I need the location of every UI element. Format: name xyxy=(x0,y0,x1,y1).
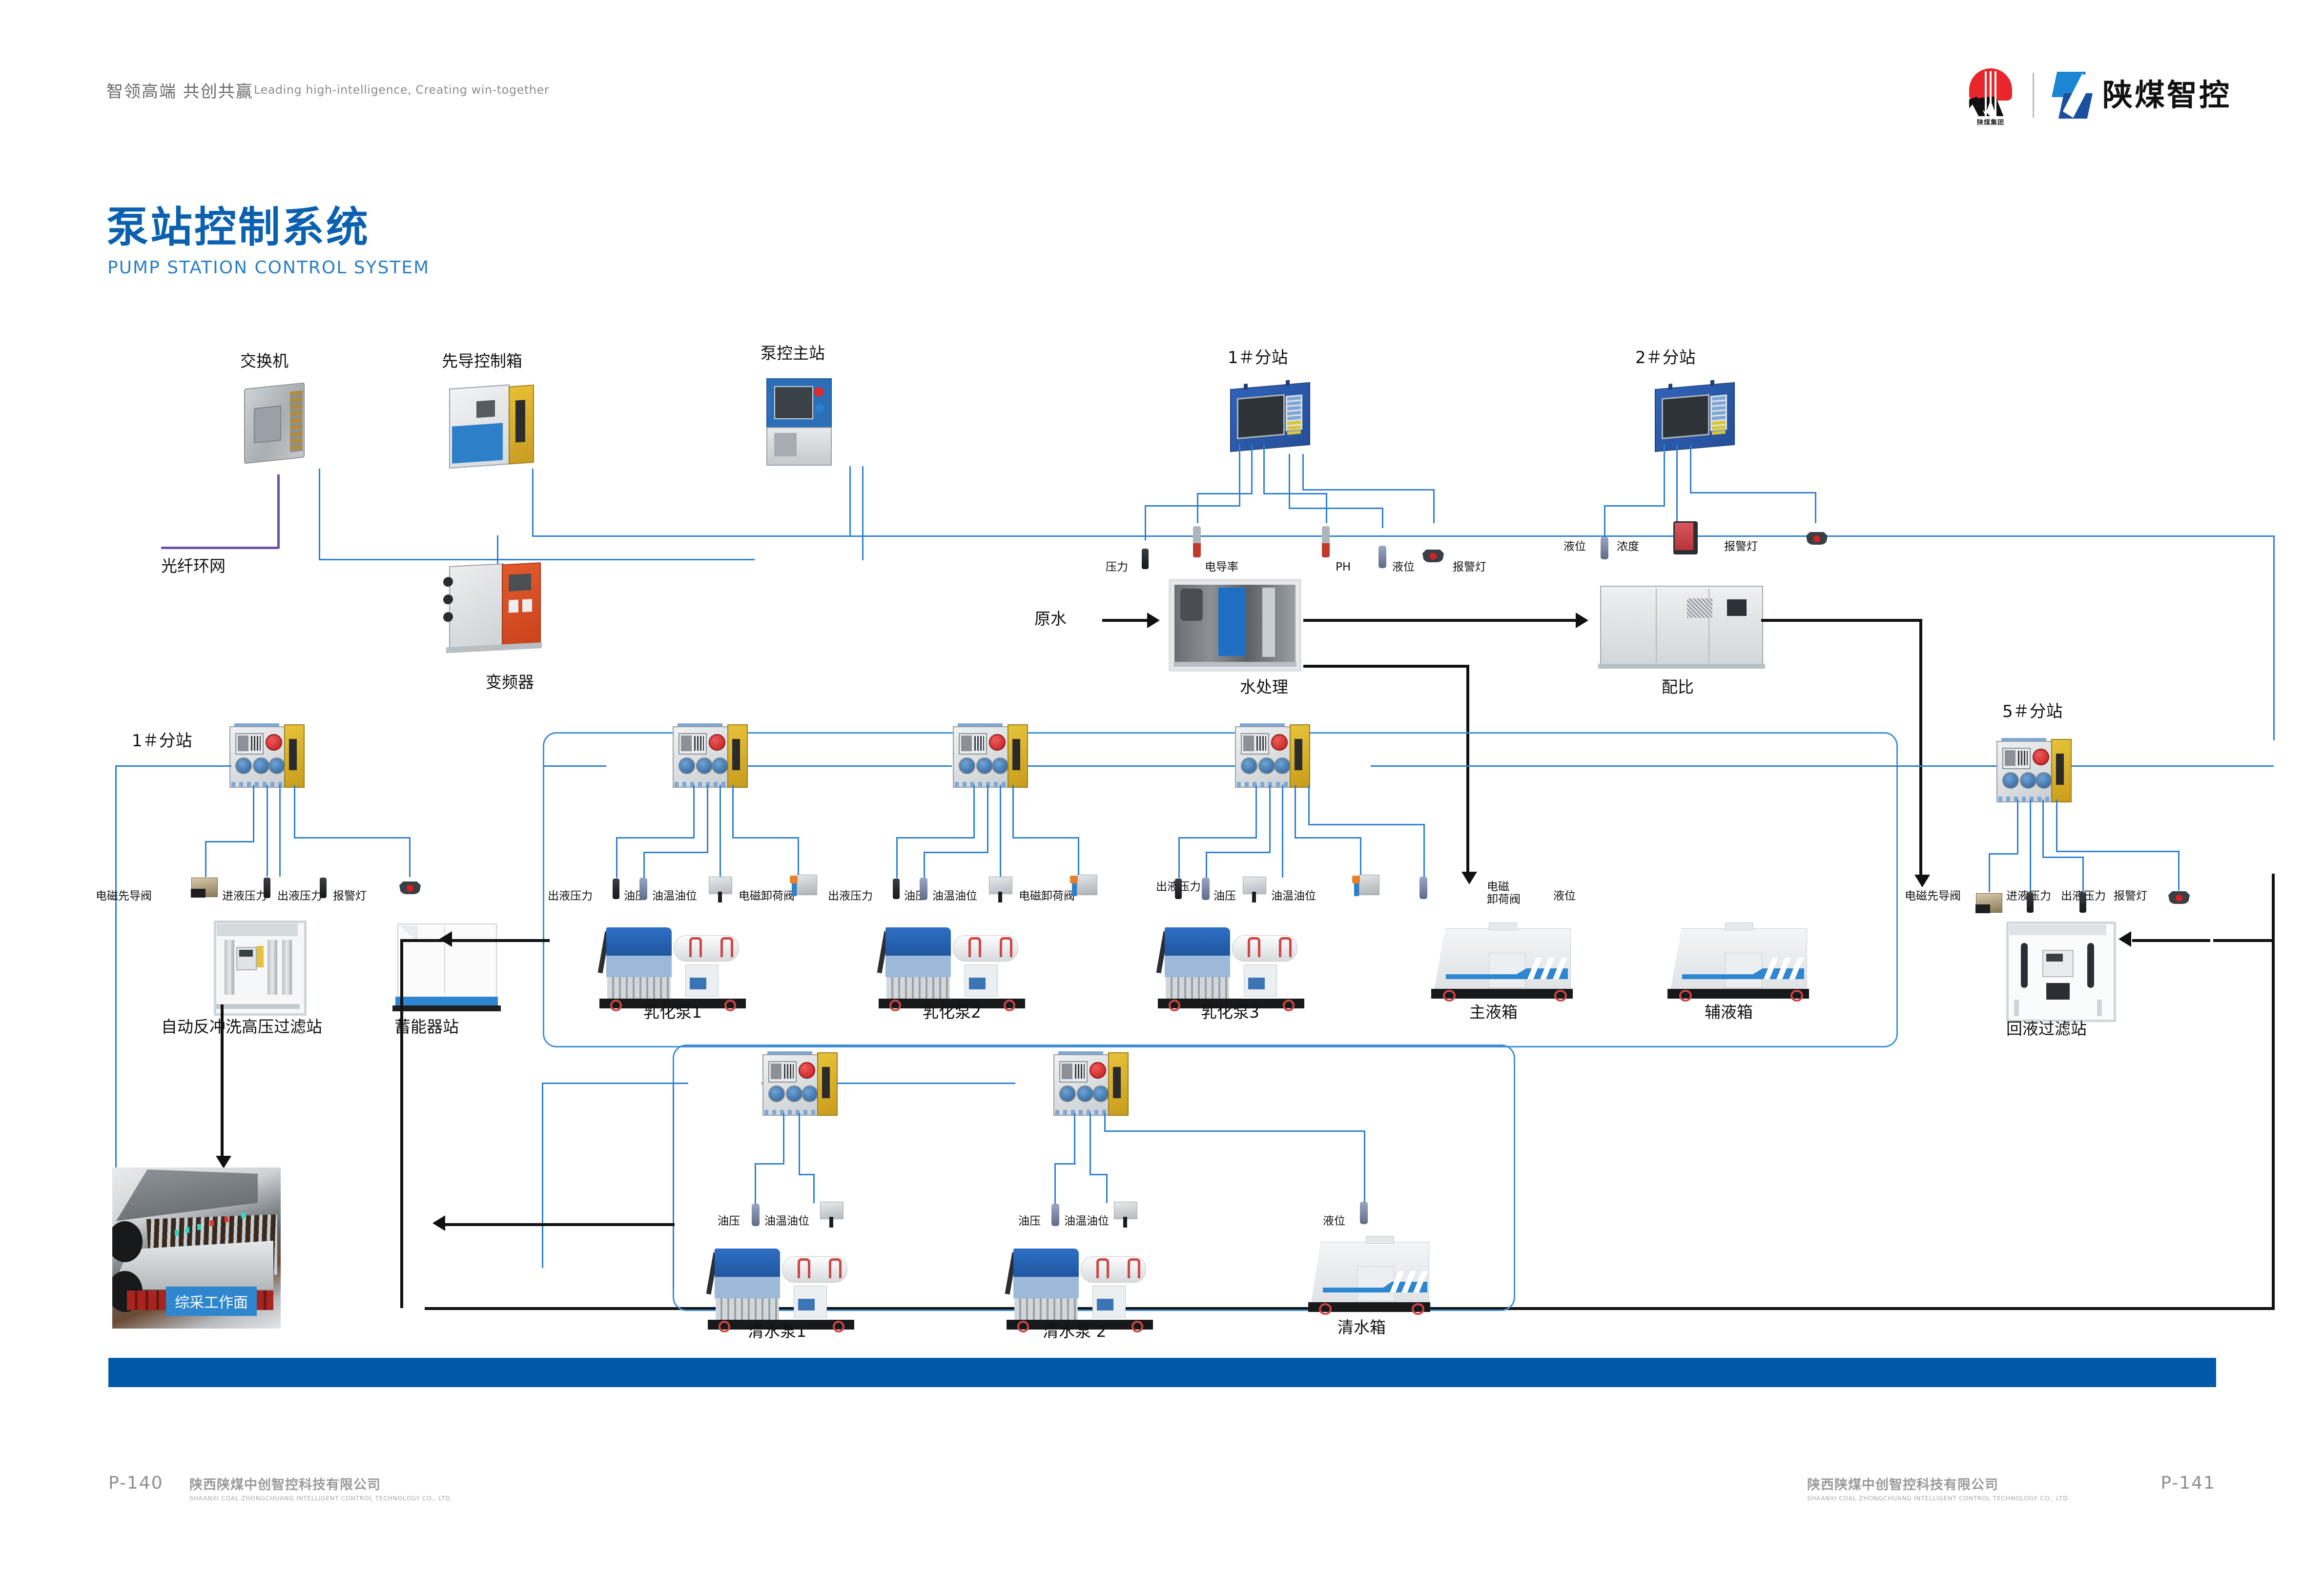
sensor-label-solenoid-pilot-valve: 电磁先导阀 xyxy=(96,890,152,903)
page-title-en: PUMP STATION CONTROL SYSTEM xyxy=(107,258,430,278)
device-label-pilot-box: 先导控制箱 xyxy=(442,352,522,370)
equip-label-clean-water-tank: 清水箱 xyxy=(1337,1319,1386,1336)
sensor-label-solenoid-pilot-valve-5: 电磁先导阀 xyxy=(1905,890,1961,903)
pressure-probe-icon-in-5 xyxy=(2027,892,2034,913)
page-number-right: P-141 xyxy=(2160,1473,2216,1493)
equip-label-backwash-filter: 自动反冲洗高压过滤站 xyxy=(161,1018,322,1036)
sensor-label-alarm: 报警灯 xyxy=(1453,561,1486,574)
sensor-label-oil-pressure-w1: 油压 xyxy=(718,1215,740,1228)
substation-5-mid-icon xyxy=(1996,741,2070,800)
sensor-label-inlet-pressure: 进液压力 xyxy=(222,890,267,903)
logo-divider xyxy=(2033,73,2034,118)
network-switch-icon xyxy=(244,382,305,464)
pressure-probe-icon-in xyxy=(264,878,270,898)
page-number-left: P-140 xyxy=(108,1473,164,1493)
footer-company-right: 陕西陕煤中创智控科技有限公司 SHAANXI COAL ZHONGCHUANG … xyxy=(1807,1474,2070,1502)
pilotbox-bus xyxy=(532,535,849,537)
solenoid-unloading-valve-icon-p2 xyxy=(1070,874,1097,896)
logo-group-caption: 陕煤集团 xyxy=(1966,117,2015,126)
sensor-label-level-2: 液位 xyxy=(1563,541,1586,553)
auto-backwash-filter-icon xyxy=(214,921,302,1011)
solenoid-unloading-valve-icon-p1 xyxy=(790,874,817,896)
sensor-label-conductivity: 电导率 xyxy=(1205,561,1238,574)
pressure-probe-icon-p2 xyxy=(893,879,900,899)
alarm-lamp-icon-5 xyxy=(2168,891,2190,904)
header-slogan-en: Leading high-intelligence, Creating win-… xyxy=(254,83,549,97)
footer-company-cn-left: 陕西陕煤中创智控科技有限公司 xyxy=(189,1474,452,1493)
footer-blue-bar xyxy=(108,1358,2216,1387)
footer-company-en-right: SHAANXI COAL ZHONGCHUANG INTELLIGENT CON… xyxy=(1807,1495,2070,1502)
zhikong-mark-icon xyxy=(2052,72,2094,119)
oil-temp-level-sensor-icon-p1 xyxy=(709,877,732,894)
sensor-label-oil-temp-level-p3: 油温油位 xyxy=(1271,890,1316,903)
sensor-label-oil-pressure-w2: 油压 xyxy=(1018,1215,1041,1228)
return-filter-station-icon xyxy=(2006,922,2111,1024)
substation-2-top-icon xyxy=(1655,382,1735,452)
label-sub2-top: 2＃分站 xyxy=(1635,349,1696,367)
equip-label-main-tank: 主液箱 xyxy=(1469,1004,1518,1021)
substation-1-mid-icon xyxy=(229,726,303,786)
equip-label-emulsion-pump-2: 乳化泵2 xyxy=(923,1004,981,1021)
sensor-label-outlet-pressure-p1: 出液压力 xyxy=(548,890,593,903)
pilotbox-downlink xyxy=(532,469,534,537)
sensor-label-oil-pressure-p3: 油压 xyxy=(1213,890,1236,903)
pressure-probe-icon-out xyxy=(320,878,327,898)
oil-temp-level-sensor-icon-p3 xyxy=(1243,877,1266,894)
equip-label-emulsion-pump-1: 乳化泵1 xyxy=(643,1004,702,1021)
solenoid-unloading-valve-icon-p3 xyxy=(1352,874,1379,896)
sensor-label-level-w: 液位 xyxy=(1323,1215,1345,1228)
oil-temp-level-sensor-icon-w1 xyxy=(820,1202,843,1219)
emulsion-pump-1-icon xyxy=(599,922,746,1013)
slide-page: 智领高端 共创共赢 Leading high-intelligence, Cre… xyxy=(0,0,2324,1577)
sensor-label-oil-temp-level-p2: 油温油位 xyxy=(932,890,977,903)
sensor-label-alarm-3: 报警灯 xyxy=(333,890,367,903)
clean-water-pump-2-icon xyxy=(1007,1244,1153,1334)
emulsion-pump-3-icon xyxy=(1158,922,1304,1013)
alarm-lamp-icon xyxy=(1422,550,1444,562)
longwall-face-caption: 综采工作面 xyxy=(166,1287,257,1316)
sensor-label-level-tank: 液位 xyxy=(1553,890,1576,903)
oil-temp-level-sensor-icon-w2 xyxy=(1114,1202,1137,1219)
equip-label-accumulator: 蓄能器站 xyxy=(394,1018,459,1036)
sensor-label-unload-valve-p1: 电磁卸荷阀 xyxy=(739,890,795,903)
sensor-label-oil-temp-level-p1: 油温油位 xyxy=(652,890,697,903)
sensor-label-alarm-2: 报警灯 xyxy=(1724,541,1758,553)
switch-downlink xyxy=(319,469,320,560)
equip-label-clean-water-pump-1: 清水泵1 xyxy=(748,1323,806,1340)
main-tank-icon xyxy=(1431,926,1573,1004)
solenoid-pilot-valve-icon-5 xyxy=(1976,893,2002,913)
substation-6-icon xyxy=(762,1054,836,1114)
sensor-label-level: 液位 xyxy=(1392,561,1415,574)
oil-pressure-probe-icon-p3 xyxy=(1202,878,1210,900)
fiber-ring-label: 光纤环网 xyxy=(161,557,226,575)
pressure-probe-icon-p3 xyxy=(1175,879,1182,899)
sensor-label-alarm-5: 报警灯 xyxy=(2114,890,2147,903)
concentration-meter-icon xyxy=(1673,521,1698,554)
shaanxi-coal-group-logo-icon: 陕煤集团 xyxy=(1966,68,2015,122)
substation-1-top-icon xyxy=(1230,382,1310,452)
sensor-label-concentration: 浓度 xyxy=(1617,541,1639,553)
oil-pressure-probe-icon-w1 xyxy=(752,1204,760,1226)
pressure-probe-icon-out-5 xyxy=(2079,892,2086,913)
equip-label-aux-tank: 辅液箱 xyxy=(1705,1004,1753,1021)
pump-master-station-icon xyxy=(766,378,830,464)
clean-water-pump-1-icon xyxy=(708,1244,854,1334)
equip-label-clean-water-pump-2: 清水泵 2 xyxy=(1043,1323,1107,1340)
level-probe-icon xyxy=(1378,546,1386,568)
sensor-label-ph: PH xyxy=(1336,561,1351,574)
substation-7-icon xyxy=(1053,1054,1127,1114)
solenoid-pilot-valve-icon xyxy=(191,878,218,897)
sensor-label-oil-temp-level-w1: 油温油位 xyxy=(764,1215,809,1228)
fiber-ring-vertical xyxy=(277,474,280,549)
level-probe-icon-tank xyxy=(1419,877,1427,899)
header-slogan-cn: 智领高端 共创共赢 xyxy=(106,78,253,102)
oil-temp-level-sensor-icon-p2 xyxy=(989,877,1012,894)
emulsion-pump-2-icon xyxy=(879,922,1025,1013)
label-sub1-mid: 1＃分站 xyxy=(132,732,192,750)
shaanmei-zhikong-logo: 陕煤智控 xyxy=(2052,72,2231,119)
master-link-b xyxy=(862,466,864,560)
fiber-ring-horizontal xyxy=(161,547,278,549)
master-link-a xyxy=(849,466,851,537)
device-label-vfd: 变频器 xyxy=(486,674,534,691)
sensor-label-unload-valve-p3: 电磁卸荷阀 xyxy=(1487,881,1521,906)
label-sub1-top: 1＃分站 xyxy=(1228,349,1288,367)
footer-company-left: 陕西陕煤中创智控科技有限公司 SHAANXI COAL ZHONGCHUANG … xyxy=(189,1474,452,1502)
raw-water-label: 原水 xyxy=(1034,610,1067,628)
logo-bar: 陕煤集团 陕煤智控 xyxy=(1966,68,2231,122)
substation-4-mid-icon xyxy=(1235,726,1308,786)
level-probe-icon-2 xyxy=(1601,537,1608,559)
alarm-lamp-icon-2 xyxy=(1806,532,1828,545)
equip-label-emulsion-pump-3: 乳化泵3 xyxy=(1201,1004,1259,1021)
label-sub5-mid: 5＃分站 xyxy=(2002,703,2063,721)
pressure-probe-icon xyxy=(1142,549,1149,569)
pressure-probe-icon-p1 xyxy=(613,879,619,899)
footer-company-en-left: SHAANXI COAL ZHONGCHUANG INTELLIGENT CON… xyxy=(189,1495,452,1502)
logo-brand-name: 陕煤智控 xyxy=(2102,80,2231,110)
device-label-switch: 交换机 xyxy=(240,352,288,370)
substation-2-mid-icon xyxy=(673,726,746,786)
unit-label-ratio: 配比 xyxy=(1662,678,1694,696)
sensor-label-pressure: 压力 xyxy=(1106,561,1128,574)
equip-label-return-filter: 回液过滤站 xyxy=(2006,1020,2087,1038)
pilot-control-box-icon xyxy=(449,383,535,467)
oil-pressure-probe-icon-p2 xyxy=(920,878,927,900)
oil-pressure-probe-icon-p1 xyxy=(639,878,647,900)
clean-water-tank-icon xyxy=(1308,1240,1430,1318)
ratio-mixing-cabinet-icon xyxy=(1600,586,1763,666)
alarm-lamp-icon-3 xyxy=(399,881,421,894)
frequency-converter-icon xyxy=(449,561,542,652)
ph-probe-icon xyxy=(1322,526,1330,557)
sensor-label-unload-valve-p2: 电磁卸荷阀 xyxy=(1019,890,1075,903)
sensor-label-outlet-pressure: 出液压力 xyxy=(277,890,322,903)
page-title-cn: 泵站控制系统 xyxy=(106,193,370,254)
footer-company-cn-right: 陕西陕煤中创智控科技有限公司 xyxy=(1807,1474,2070,1493)
aux-tank-icon xyxy=(1667,926,1809,1004)
main-bus-right-drop xyxy=(2273,535,2275,740)
unit-label-water-treatment: 水处理 xyxy=(1240,678,1288,696)
main-bus-upper xyxy=(849,535,2275,537)
conductivity-probe-icon xyxy=(1193,526,1201,557)
level-probe-icon-w xyxy=(1360,1202,1368,1224)
sensor-label-oil-temp-level-w2: 油温油位 xyxy=(1064,1215,1109,1228)
substation-3-mid-icon xyxy=(953,726,1026,786)
switch-bus xyxy=(319,559,755,560)
oil-pressure-probe-icon-w2 xyxy=(1051,1204,1059,1226)
water-treatment-unit-icon xyxy=(1169,579,1301,672)
device-label-pump-master: 泵控主站 xyxy=(761,345,825,362)
sensor-label-outlet-pressure-p2: 出液压力 xyxy=(828,890,873,903)
